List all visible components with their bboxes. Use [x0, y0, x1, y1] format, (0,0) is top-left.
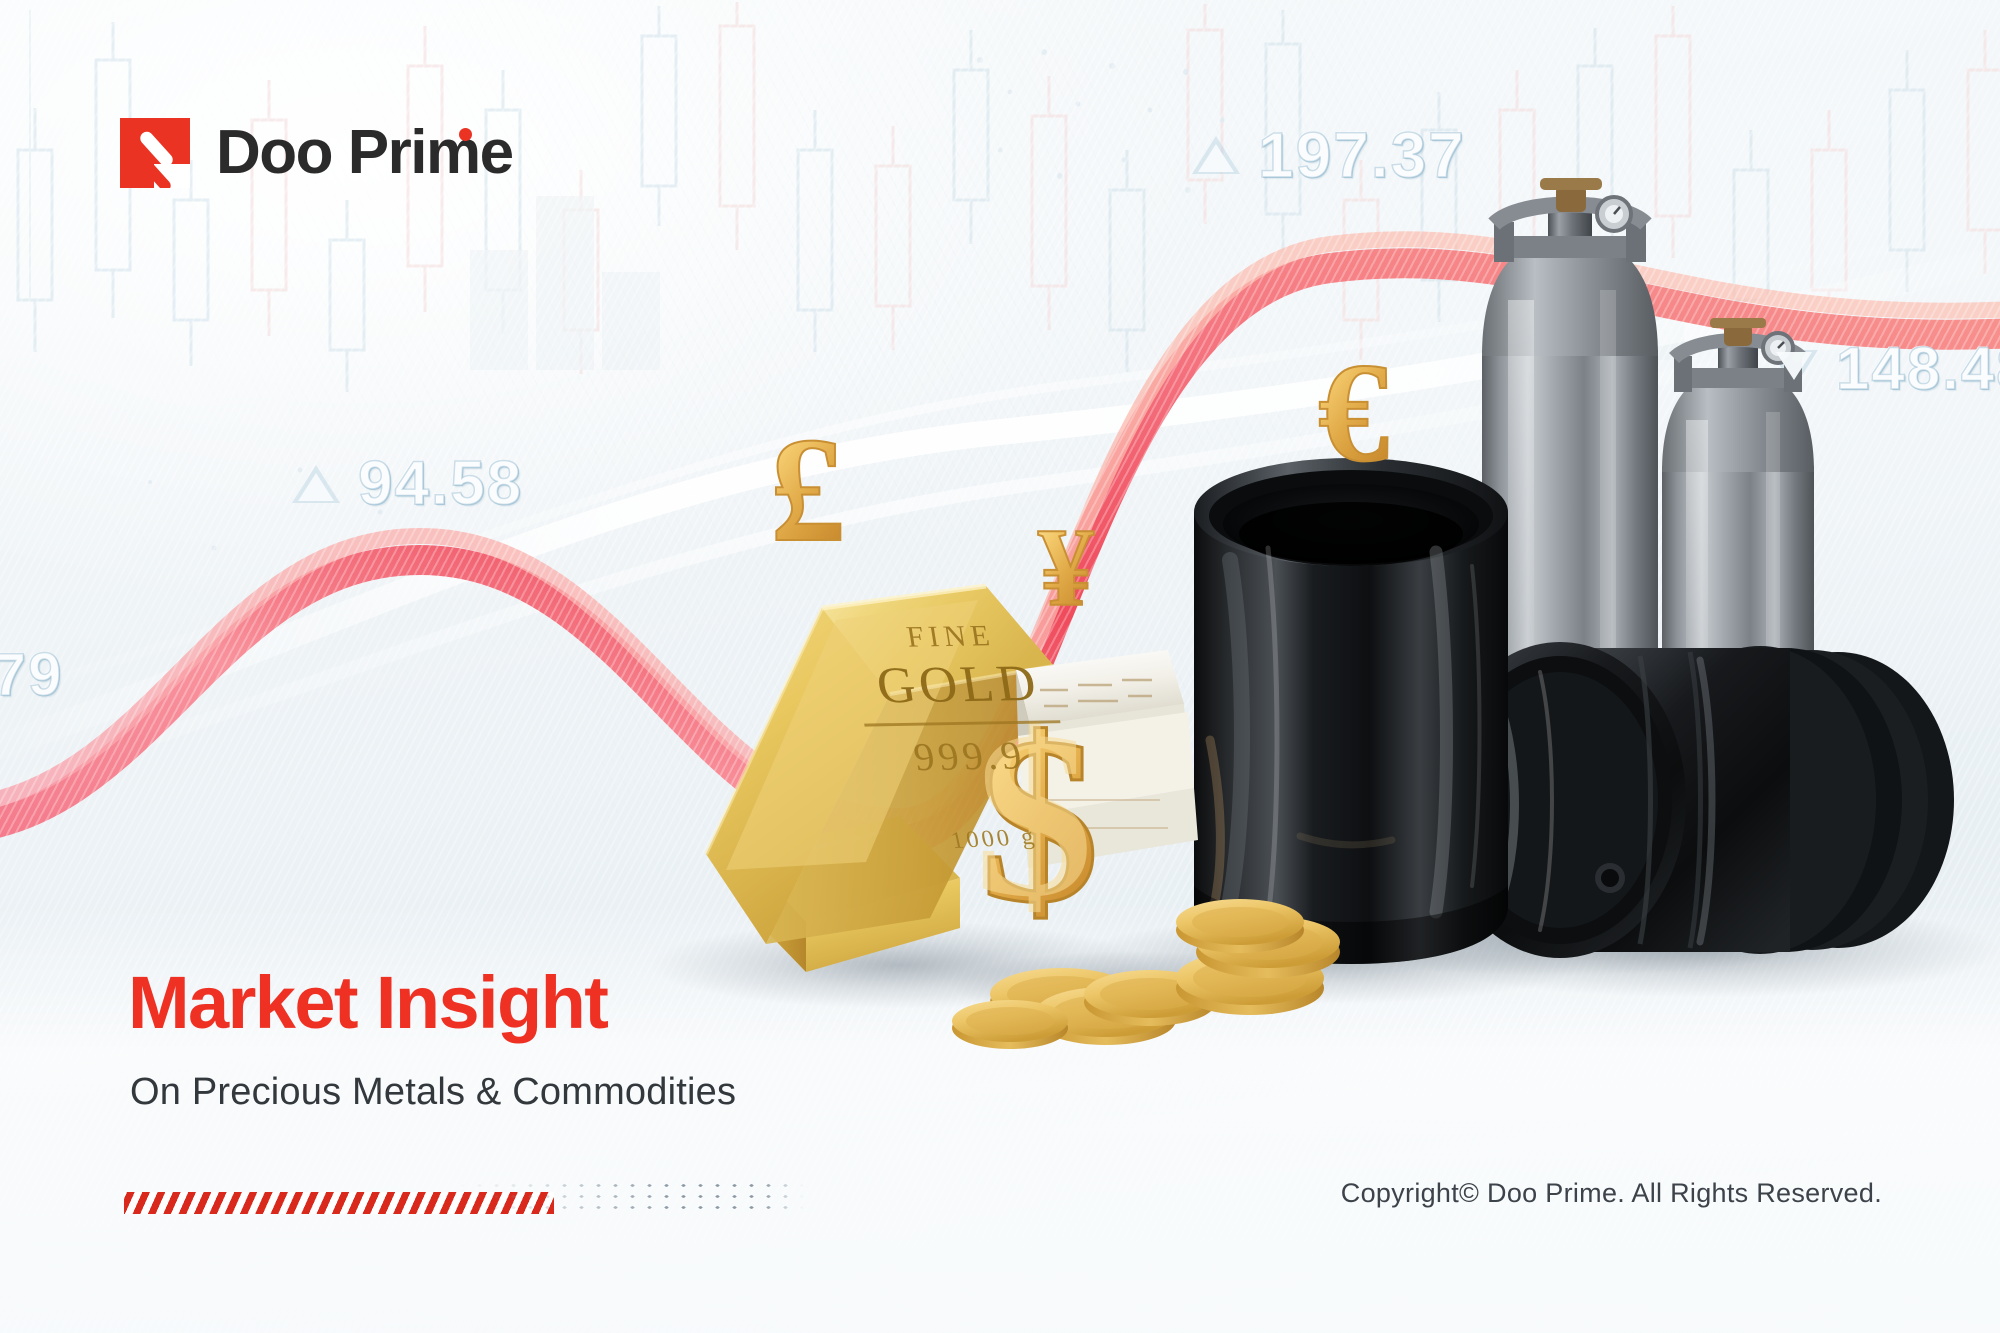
product-scene: $ $ — [0, 0, 2000, 1333]
contact-shadows — [650, 884, 2000, 1019]
brand-logo[interactable]: Doo Prime — [120, 118, 513, 188]
page-subtitle: On Precious Metals & Commodities — [130, 1073, 736, 1111]
euro-symbol: € — [1318, 333, 1389, 491]
svg-text:€: € — [1318, 333, 1389, 491]
market-insight-banner: 94.58 197.37 148.48 .79 — [0, 0, 2000, 1333]
logo-i-dot — [459, 128, 472, 141]
gold-bar-line-purity: 999.9 — [860, 731, 1079, 781]
svg-text:£: £ — [770, 407, 845, 573]
oil-barrel-stack — [1434, 642, 1954, 958]
oil-barrel — [1194, 458, 1508, 964]
page-title: Market Insight — [128, 966, 607, 1040]
gold-bar-weight: 1000 g — [949, 824, 1040, 855]
copyright-text: Copyright© Doo Prime. All Rights Reserve… — [1341, 1178, 1882, 1209]
doo-prime-logo-mark-icon — [120, 118, 190, 188]
gas-cylinder-small — [1662, 318, 1814, 858]
brand-wordmark: Doo Prime — [216, 122, 513, 184]
yen-symbol: ¥ — [1038, 506, 1094, 630]
gas-cylinder-large — [1482, 178, 1658, 854]
gold-bar-line-fine: FINE — [842, 618, 1059, 655]
decorative-bar — [124, 1180, 804, 1214]
gold-bar-line-gold: GOLD — [848, 654, 1069, 716]
svg-text:¥: ¥ — [1038, 506, 1094, 630]
gold-bar-divider — [864, 720, 1060, 726]
gold-coins — [952, 899, 1340, 1049]
decorative-dot-matrix — [454, 1180, 804, 1214]
pound-symbol: £ — [770, 407, 845, 573]
